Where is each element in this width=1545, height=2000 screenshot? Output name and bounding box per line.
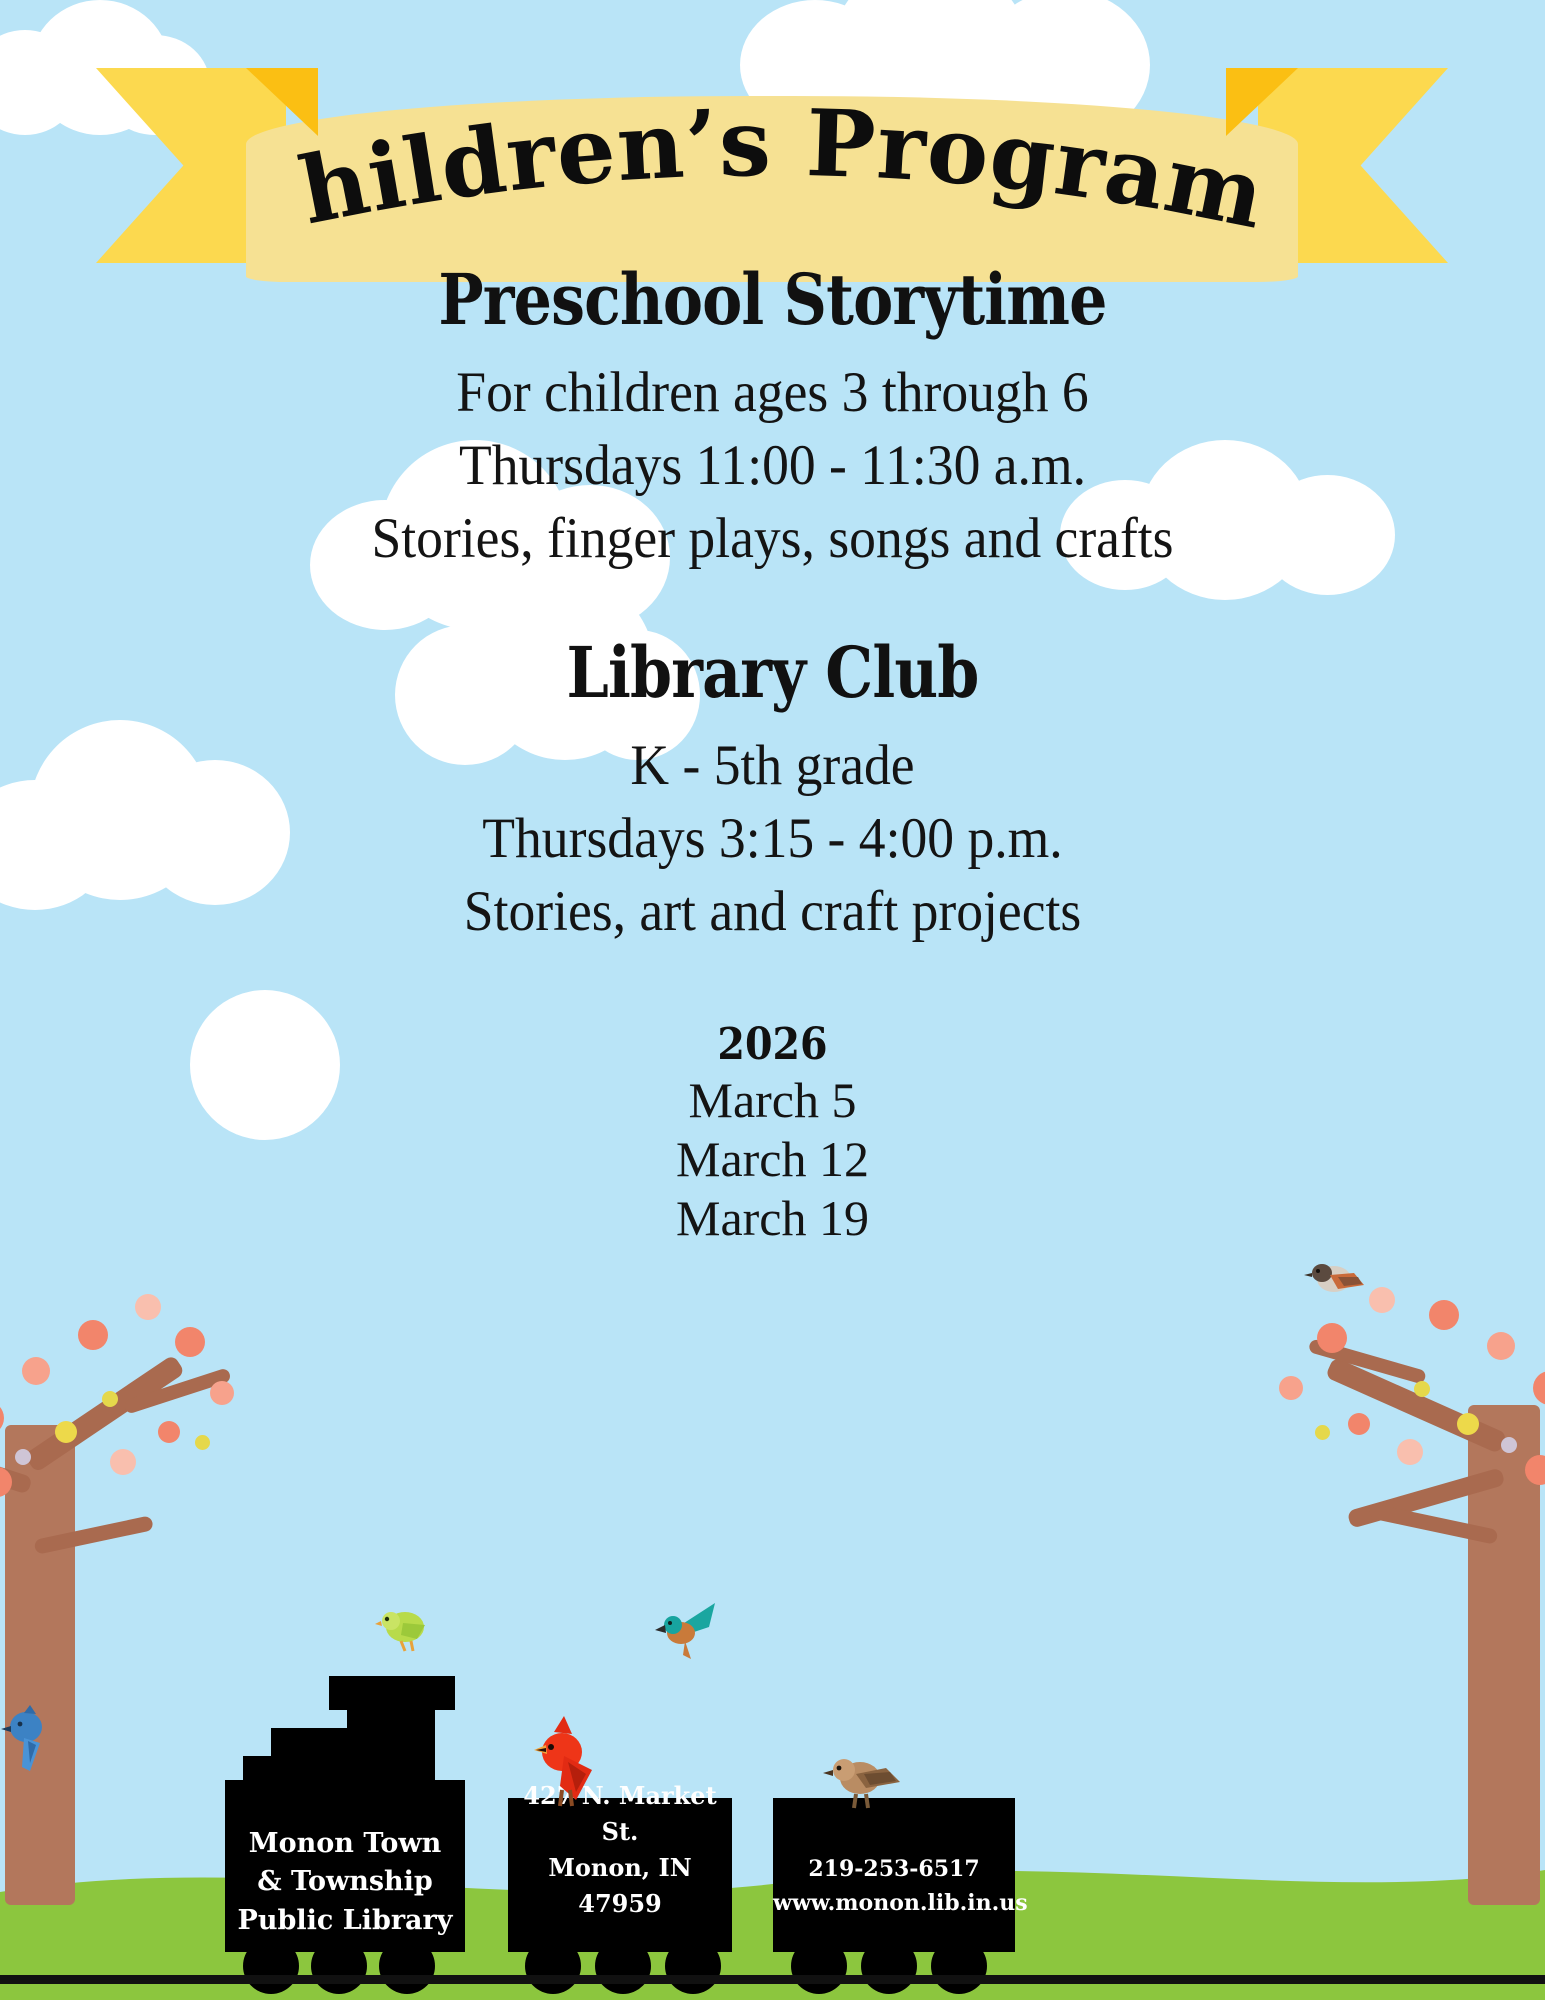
blossom (175, 1327, 205, 1357)
blossom (195, 1435, 210, 1450)
blossom (102, 1391, 118, 1407)
blossom (1414, 1381, 1430, 1397)
blossom (1457, 1413, 1479, 1435)
train-car-contact-text: 219-253-6517 www.monon.lib.in.us (773, 1852, 1015, 1920)
program-preschool-storytime: Preschool Storytime For children ages 3 … (0, 265, 1545, 576)
tree-trunk (5, 1425, 75, 1905)
train-wheel (665, 1938, 721, 1994)
blossom (1487, 1332, 1515, 1360)
schedule-block: 2026 March 5 March 12 March 19 (0, 1019, 1545, 1248)
blossom (15, 1449, 31, 1465)
blossom (210, 1381, 234, 1405)
title-banner: Children’s Programs (96, 30, 1448, 260)
schedule-year: 2026 (77, 1019, 1468, 1071)
robin-bird-icon (1300, 1257, 1370, 1305)
train-wheel (861, 1938, 917, 1994)
blossom (1369, 1287, 1395, 1313)
blossom (1429, 1300, 1459, 1330)
website-url: www.monon.lib.in.us (773, 1886, 1015, 1920)
schedule-date: March 12 (0, 1130, 1545, 1189)
blossom (22, 1357, 50, 1385)
schedule-date: March 19 (0, 1189, 1545, 1248)
program-line-grade: K - 5th grade (46, 730, 1498, 803)
train-rail (0, 1975, 1545, 1984)
train-wheel (595, 1938, 651, 1994)
train-wheel (243, 1938, 299, 1994)
blossom (158, 1421, 180, 1443)
section-spacer (0, 576, 1545, 638)
train-engine-chimney (329, 1676, 455, 1710)
library-name-line1: Monon Town (225, 1825, 465, 1863)
blossom (1397, 1439, 1423, 1465)
blossom (1348, 1413, 1370, 1435)
program-title: Preschool Storytime (108, 265, 1437, 335)
blossom (78, 1320, 108, 1350)
cardinal-bird-icon (520, 1716, 610, 1808)
train-graphic: Monon Town & Township Public Library 427… (225, 1700, 1285, 2000)
kingfisher-bird-icon (655, 1597, 727, 1665)
banner-body (246, 96, 1298, 282)
train-wheel (311, 1938, 367, 1994)
programs-content: Preschool Storytime For children ages 3 … (0, 265, 1545, 1248)
blossom (1533, 1371, 1545, 1405)
program-library-club: Library Club K - 5th grade Thursdays 3:1… (0, 638, 1545, 949)
train-engine-step-top (271, 1728, 349, 1768)
program-line-time: Thursdays 3:15 - 4:00 p.m. (46, 803, 1498, 876)
train-wheel (525, 1938, 581, 1994)
program-line-time: Thursdays 11:00 - 11:30 a.m. (46, 430, 1498, 503)
blossom (0, 1401, 4, 1435)
phone-number: 219-253-6517 (773, 1852, 1015, 1886)
blossom (1279, 1376, 1303, 1400)
library-name-line3: Public Library (225, 1902, 465, 1940)
green-bird-icon (375, 1603, 437, 1655)
program-line-activities: Stories, finger plays, songs and crafts (46, 503, 1498, 576)
program-line-ages: For children ages 3 through 6 (46, 357, 1498, 430)
train-wheel (379, 1938, 435, 1994)
library-name-line2: & Township (225, 1863, 465, 1901)
train-wheel (791, 1938, 847, 1994)
wren-bird-icon (820, 1748, 912, 1810)
blue-jay-bird-icon (0, 1705, 60, 1775)
blossom (55, 1421, 77, 1443)
blossom (1317, 1323, 1347, 1353)
schedule-date: March 5 (0, 1071, 1545, 1130)
blossom (135, 1294, 161, 1320)
blossom (110, 1449, 136, 1475)
blossom (1501, 1437, 1517, 1453)
program-line-activities: Stories, art and craft projects (46, 876, 1498, 949)
blossom (1315, 1425, 1330, 1440)
train-engine-text: Monon Town & Township Public Library (225, 1825, 465, 1940)
poster-root: Children’s Programs Preschool Storytime … (0, 0, 1545, 2000)
program-title: Library Club (108, 638, 1437, 708)
address-line2: Monon, IN 47959 (508, 1850, 732, 1922)
train-wheel (931, 1938, 987, 1994)
train-engine-cab (347, 1700, 435, 1800)
